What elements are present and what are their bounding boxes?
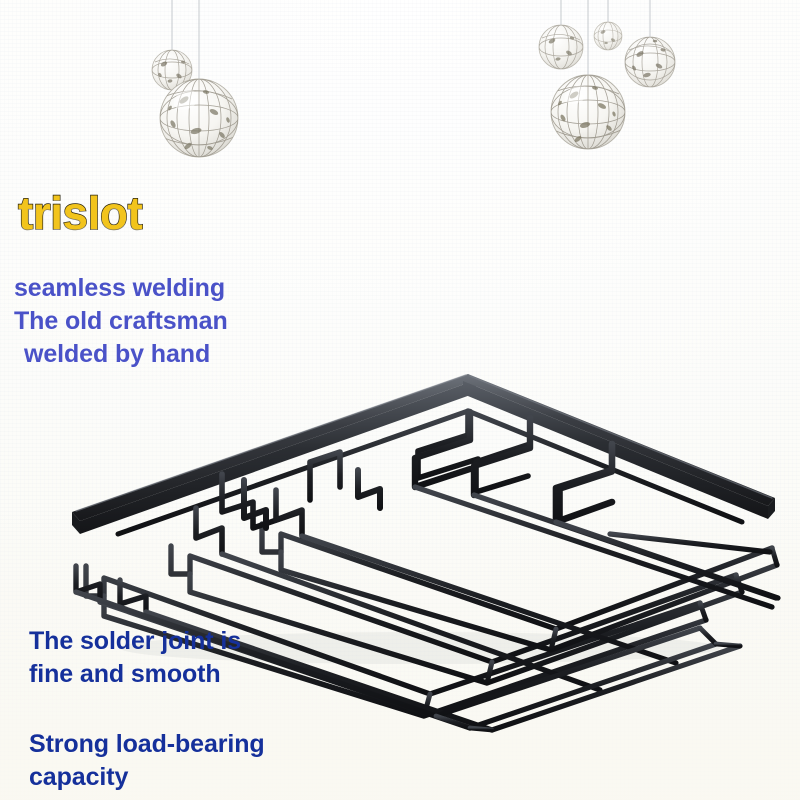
upper-copy-line-3: welded by hand (14, 338, 228, 371)
upper-copy-line-2: The old craftsman (14, 305, 228, 338)
load-bearing-copy-line-2: capacity (29, 761, 265, 794)
solder-joint-copy-line-1: The solder joint is (29, 625, 241, 658)
upper-feature-copy: seamless welding The old craftsman welde… (14, 272, 228, 370)
solder-joint-copy: The solder joint is fine and smooth (29, 625, 241, 691)
upper-copy-line-1: seamless welding (14, 272, 228, 305)
load-bearing-copy: Strong load-bearing capacity (29, 728, 265, 794)
product-marketing-image: trislot seamless welding The old craftsm… (0, 0, 800, 800)
brand-wordmark: trislot (18, 190, 142, 236)
load-bearing-copy-line-1: Strong load-bearing (29, 728, 265, 761)
solder-joint-copy-line-2: fine and smooth (29, 658, 241, 691)
